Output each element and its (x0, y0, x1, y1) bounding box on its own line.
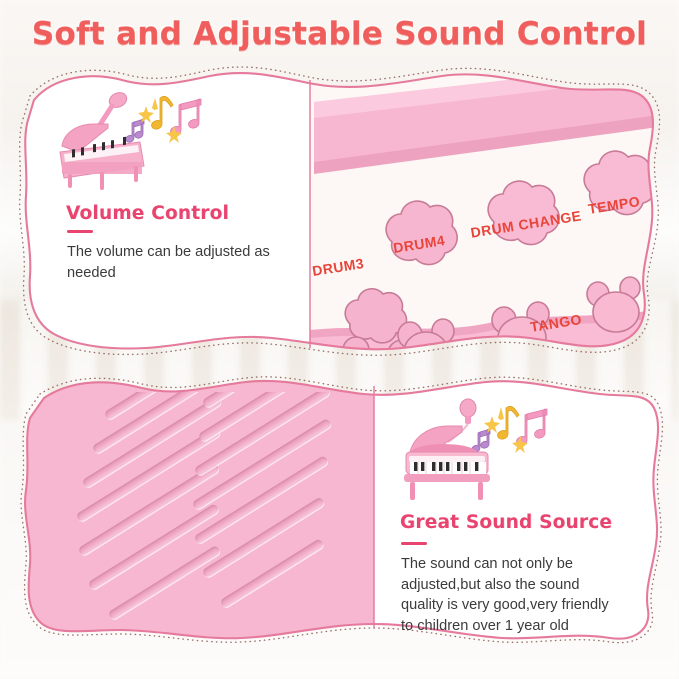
piano-illustration-bottom (392, 394, 592, 514)
page-title: Soft and Adjustable Sound Control (0, 16, 679, 52)
body-line-1: The sound can not only be (401, 554, 651, 575)
body-line-3: quality is very good,very friendly (401, 595, 651, 616)
photo-buttons-closeup (310, 62, 666, 372)
body-line-4: to children over 1 year old (401, 616, 651, 637)
section-bottom: Great Sound Source The sound can not onl… (14, 372, 666, 662)
heading-great-sound-source: Great Sound Source (400, 512, 612, 533)
product-feature-image: Soft and Adjustable Sound Control (0, 0, 679, 679)
speaker-grille-slots (54, 392, 366, 642)
piano-illustration-top (48, 86, 248, 196)
heading-volume-control: Volume Control (66, 203, 229, 224)
section-top: Volume Control The volume can be adjuste… (14, 62, 666, 360)
body-line-2: adjusted,but also the sound (401, 575, 651, 596)
body-volume-control: The volume can be adjusted as needed (67, 242, 282, 283)
heading-underline-bottom (401, 542, 427, 545)
heading-underline-top (67, 230, 93, 233)
